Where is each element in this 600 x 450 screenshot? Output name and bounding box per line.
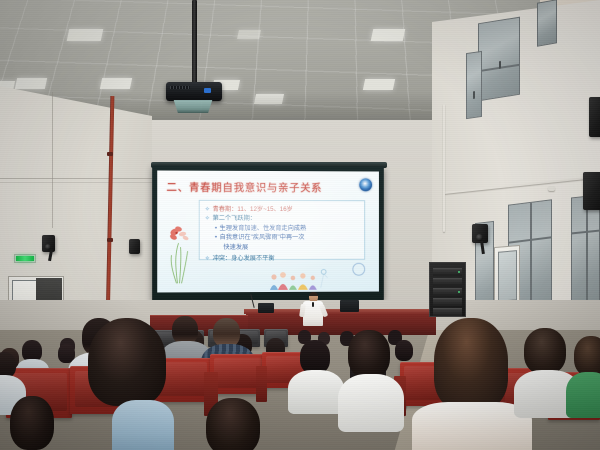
rack-unit bbox=[433, 278, 462, 286]
person-head bbox=[574, 336, 600, 376]
person-head bbox=[206, 398, 260, 450]
handheld-microphone-icon bbox=[312, 302, 314, 307]
projector-mount-pole bbox=[192, 0, 197, 84]
bullet-text: 青春期：11、12岁~15、16岁 bbox=[213, 205, 293, 215]
rack-unit bbox=[433, 308, 462, 316]
emergency-exit-sign bbox=[14, 254, 36, 263]
ceiling-light-panel bbox=[67, 29, 104, 41]
wall-speaker-right-far bbox=[583, 172, 600, 210]
bullet-text: 冲突：身心发展不平衡 bbox=[213, 254, 275, 264]
bullet-marker: • bbox=[215, 233, 217, 242]
person-head bbox=[88, 318, 166, 406]
ceiling-light-panel bbox=[237, 30, 261, 39]
conduit-junction-box bbox=[548, 186, 555, 191]
window-mullion bbox=[586, 197, 588, 313]
slide-title: 二、青春期自我意识与亲子关系 bbox=[166, 180, 359, 196]
wall-conduit-vertical bbox=[443, 104, 445, 232]
window-upper-right-3 bbox=[466, 51, 482, 119]
projected-slide: 二、青春期自我意识与亲子关系 bbox=[157, 170, 379, 292]
person-head bbox=[10, 396, 54, 450]
projector-vent bbox=[170, 86, 190, 89]
rack-power-led bbox=[458, 271, 460, 273]
desk-monitor bbox=[340, 300, 359, 312]
person-shoulders bbox=[112, 400, 174, 450]
window-upper-right-2 bbox=[537, 0, 557, 47]
person-head bbox=[300, 340, 330, 374]
slide-bullet: ✧ 冲突：身心发展不平衡 bbox=[205, 254, 359, 264]
ceiling-light-panel bbox=[363, 79, 395, 90]
slide-bullet: • 自我意识在"疾风骤雨"中再一次 bbox=[215, 233, 359, 242]
wall-speaker-right-lower bbox=[472, 224, 488, 243]
bullet-marker: ✧ bbox=[205, 254, 210, 263]
bullet-marker: ✧ bbox=[205, 214, 210, 223]
projection-screen: 二、青春期自我意识与亲子关系 bbox=[152, 165, 384, 301]
ceiling-light-panel bbox=[15, 78, 47, 89]
wall-seam bbox=[0, 182, 152, 183]
person-head bbox=[434, 318, 508, 410]
window-handle bbox=[499, 61, 501, 69]
person-shoulders bbox=[338, 374, 404, 432]
slide-bullet: ✧ 青春期：11、12岁~15、16岁 bbox=[205, 205, 359, 215]
wall-speaker-right-upper bbox=[589, 97, 600, 137]
slide-bullet: 快速发展 bbox=[221, 243, 359, 253]
school-emblem-icon bbox=[359, 178, 372, 191]
orchid-illustration-icon bbox=[165, 223, 195, 285]
desk-monitor-left bbox=[258, 303, 274, 313]
slide-bullet: ✧ 第二个飞跃期： bbox=[205, 214, 359, 224]
person-head bbox=[395, 340, 413, 361]
window-handle bbox=[473, 91, 475, 99]
slide-corner-seal-icon bbox=[352, 263, 365, 276]
person-head bbox=[348, 330, 390, 378]
chair-armrest bbox=[256, 366, 267, 402]
wall-seam bbox=[0, 178, 152, 179]
exit-sign-glow bbox=[16, 256, 34, 261]
cartoon-family-figures-icon bbox=[266, 266, 332, 290]
presenter-at-podium bbox=[300, 292, 326, 326]
av-equipment-rack bbox=[429, 262, 466, 317]
slide-bullet: • 生理发育加速、性发育走向成熟 bbox=[215, 224, 359, 233]
rack-power-led bbox=[458, 291, 460, 293]
person-head bbox=[172, 316, 198, 344]
ceiling-light-panel bbox=[371, 29, 406, 41]
lecture-hall-photo: 二、青春期自我意识与亲子关系 bbox=[0, 0, 600, 450]
rack-unit bbox=[433, 298, 462, 306]
bullet-marker: ✧ bbox=[205, 205, 210, 214]
bullet-text: 自我意识在"疾风骤雨"中再一次 bbox=[220, 233, 305, 242]
ceiling-light-panel bbox=[100, 78, 132, 89]
bullet-text: 第二个飞跃期： bbox=[213, 214, 256, 223]
window-upper-right-1 bbox=[478, 17, 520, 102]
projector-lens bbox=[172, 100, 214, 113]
door-glass-panel bbox=[498, 250, 517, 302]
ceiling-projector bbox=[166, 82, 222, 101]
wall-speaker-back-left bbox=[129, 239, 140, 254]
window-lower-right-2 bbox=[571, 194, 600, 315]
person-shoulders bbox=[288, 370, 344, 414]
standpipe-band bbox=[107, 238, 113, 242]
bullet-marker: • bbox=[215, 224, 217, 233]
person-head bbox=[524, 328, 566, 374]
bullet-text: 快速发展 bbox=[223, 243, 248, 252]
person-head bbox=[213, 318, 240, 347]
projector-status-led bbox=[204, 88, 211, 93]
person-shoulders bbox=[566, 372, 600, 418]
bullet-text: 生理发育加速、性发育走向成熟 bbox=[220, 224, 307, 233]
slide-bullet-box: ✧ 青春期：11、12岁~15、16岁 ✧ 第二个飞跃期： • 生理发育加速、性… bbox=[199, 200, 365, 260]
standpipe-band bbox=[107, 152, 113, 156]
wall-seam bbox=[52, 92, 53, 228]
